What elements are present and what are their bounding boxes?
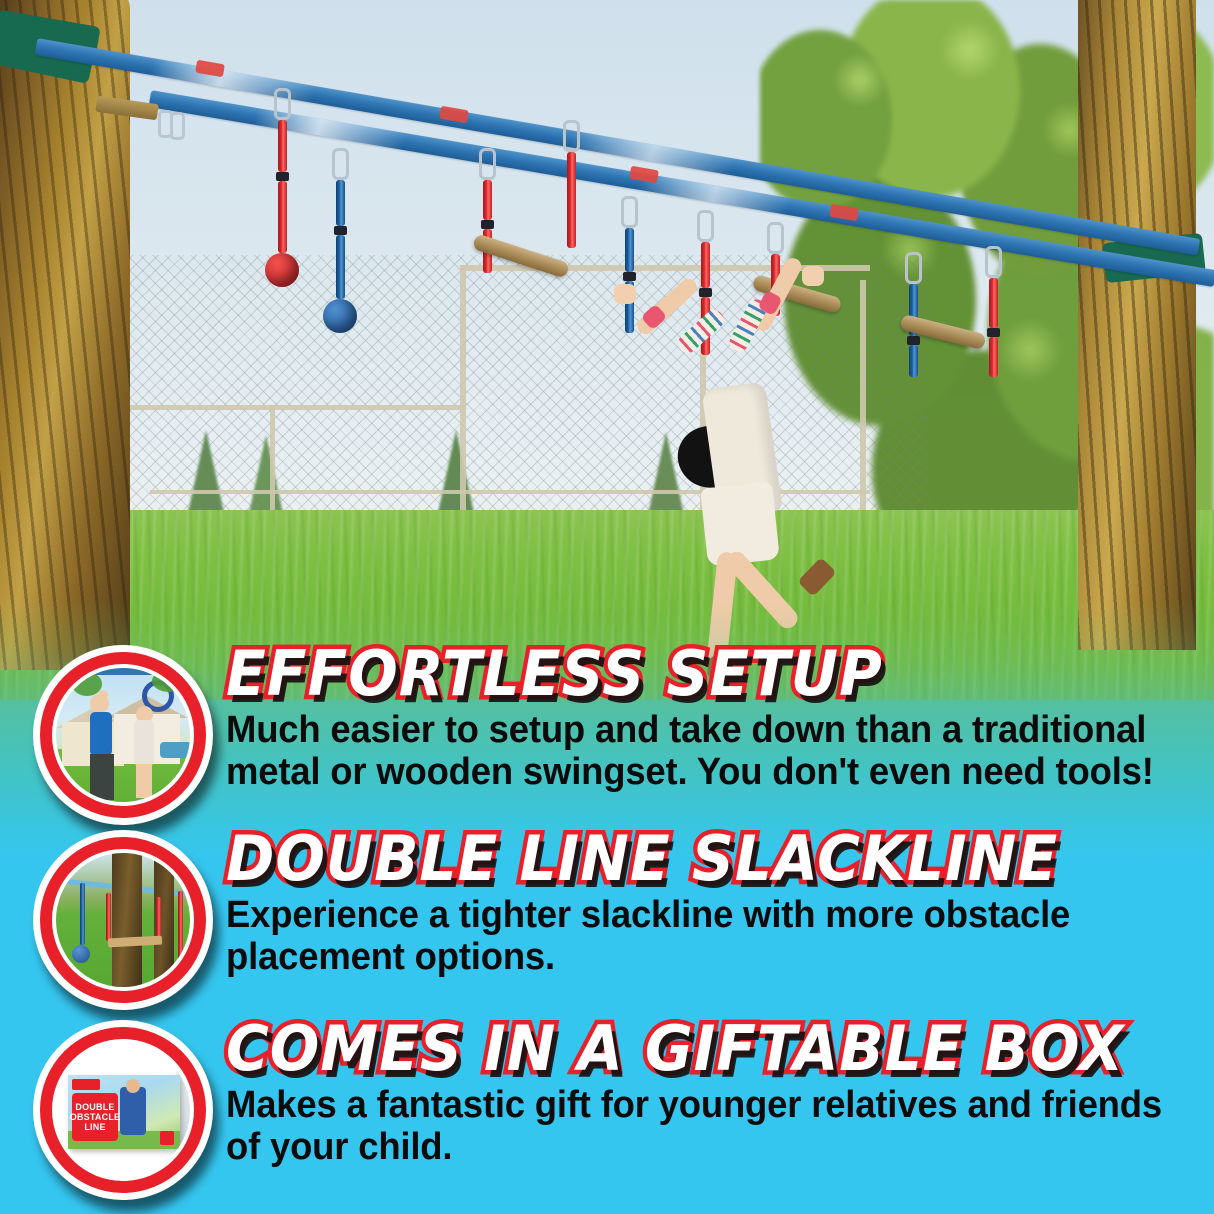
blue-webbing-strap bbox=[336, 235, 345, 299]
product-box-line-1: DOUBLE bbox=[75, 1103, 114, 1112]
product-feature-poster: EFFORTLESS SETUP Much easier to setup an… bbox=[0, 0, 1214, 1214]
feature-title: EFFORTLESS SETUP bbox=[226, 645, 1147, 704]
parked-car bbox=[160, 742, 190, 758]
slackline-swing-between-trees-thumbnail bbox=[56, 853, 190, 987]
red-hanger-rope bbox=[178, 891, 183, 969]
blue-hanger-rope bbox=[80, 883, 85, 945]
carabiner-icon bbox=[479, 148, 496, 180]
strap-clip-icon bbox=[987, 328, 1000, 337]
hanging-obstacle-right-red bbox=[978, 246, 1008, 377]
child-hanging-on-obstacle bbox=[690, 280, 900, 660]
carabiner-icon bbox=[274, 88, 291, 120]
knotted-climbing-ball-red bbox=[265, 253, 299, 287]
carabiner-icon bbox=[563, 120, 580, 152]
thumbnail-scene bbox=[56, 853, 190, 987]
child-right-hand bbox=[802, 266, 824, 286]
child-right-shoe bbox=[797, 557, 836, 597]
product-box-line-3: LINE bbox=[84, 1123, 105, 1132]
tree-trunk bbox=[112, 853, 142, 987]
red-webbing-strap bbox=[989, 278, 998, 328]
carabiner-icon bbox=[332, 148, 349, 180]
girl-torso bbox=[134, 720, 154, 766]
feature-row-double-line-slackline: DOUBLE LINE SLACKLINE Experience a tight… bbox=[0, 830, 1214, 1010]
blue-webbing-strap bbox=[625, 228, 634, 272]
red-webbing-strap bbox=[989, 337, 998, 377]
fence-rail bbox=[125, 405, 465, 410]
red-hanger-rope bbox=[106, 893, 111, 941]
product-box-photo-child bbox=[120, 1087, 146, 1135]
blue-webbing-strap bbox=[909, 345, 918, 377]
girl-legs bbox=[136, 764, 152, 798]
carabiner-icon bbox=[621, 196, 638, 228]
feature-title: COMES IN A GIFTABLE BOX bbox=[226, 1020, 1147, 1079]
carabiner-icon bbox=[767, 222, 784, 254]
red-webbing-strap bbox=[483, 180, 492, 220]
hanging-obstacle-monkey-bar-1-right bbox=[556, 120, 586, 248]
feature-row-effortless-setup: EFFORTLESS SETUP Much easier to setup an… bbox=[0, 645, 1214, 825]
product-retail-box-thumbnail: DOUBLE OBSTACLE LINE bbox=[56, 1043, 190, 1177]
knotted-climbing-ball-blue bbox=[323, 299, 357, 333]
thumbnail-scene bbox=[56, 668, 190, 802]
product-box-brand-logo bbox=[72, 1079, 100, 1090]
thumbnail-scene: DOUBLE OBSTACLE LINE bbox=[56, 1043, 190, 1177]
feature-title: DOUBLE LINE SLACKLINE bbox=[226, 830, 1147, 889]
product-box-line-2: OBSTACLE bbox=[70, 1113, 120, 1122]
foliage bbox=[152, 670, 186, 692]
carabiner-icon bbox=[985, 246, 1002, 278]
feature-body: Much easier to setup and take down than … bbox=[226, 710, 1167, 794]
strap-clip-icon bbox=[623, 272, 636, 281]
carabiner-icon bbox=[905, 252, 922, 284]
feature-row-comes-in-a-giftable-box: DOUBLE OBSTACLE LINE COMES IN A GIFTABLE… bbox=[0, 1020, 1214, 1200]
strap-clip-icon bbox=[334, 226, 347, 235]
feature-thumbnail-badge bbox=[33, 645, 213, 825]
boy-legs bbox=[90, 754, 114, 800]
feature-text-block: COMES IN A GIFTABLE BOX Makes a fantasti… bbox=[213, 1020, 1214, 1168]
red-hanger-rope bbox=[156, 897, 161, 941]
feature-text-block: EFFORTLESS SETUP Much easier to setup an… bbox=[213, 645, 1214, 793]
red-webbing-strap bbox=[567, 152, 576, 248]
ratchet-d-ring-icon bbox=[170, 112, 185, 140]
product-box-photo-child-head bbox=[126, 1079, 140, 1093]
product-box-name-label: DOUBLE OBSTACLE LINE bbox=[72, 1093, 118, 1141]
boy-head bbox=[90, 694, 109, 713]
child-left-hand bbox=[614, 284, 636, 304]
feature-body: Makes a fantastic gift for younger relat… bbox=[226, 1085, 1167, 1169]
boy-torso bbox=[90, 712, 112, 756]
carabiner-icon bbox=[697, 210, 714, 242]
two-kids-setting-up-slackline-thumbnail bbox=[56, 668, 190, 802]
feature-body: Experience a tighter slackline with more… bbox=[226, 895, 1167, 979]
strap-clip-icon bbox=[907, 336, 920, 345]
feature-thumbnail-badge bbox=[33, 830, 213, 1010]
right-tree-bark-texture bbox=[1078, 0, 1196, 650]
red-webbing-strap bbox=[278, 120, 287, 172]
red-webbing-strap bbox=[278, 181, 287, 253]
strap-clip-icon bbox=[276, 172, 289, 181]
blue-webbing-strap bbox=[336, 180, 345, 226]
strap-clip-icon bbox=[481, 220, 494, 229]
hanging-obstacle-red-ball bbox=[262, 88, 302, 287]
hanging-obstacle-blue-ball bbox=[320, 148, 360, 333]
feature-thumbnail-badge: DOUBLE OBSTACLE LINE bbox=[33, 1020, 213, 1200]
feature-text-block: DOUBLE LINE SLACKLINE Experience a tight… bbox=[213, 830, 1214, 978]
hanging-obstacle-monkey-bar-3 bbox=[898, 252, 928, 377]
product-box-corner-badge bbox=[160, 1131, 174, 1145]
hero-photo bbox=[0, 0, 1214, 700]
hanging-obstacle-blue-strap bbox=[614, 196, 644, 333]
knotted-climbing-ball-blue bbox=[72, 945, 90, 963]
